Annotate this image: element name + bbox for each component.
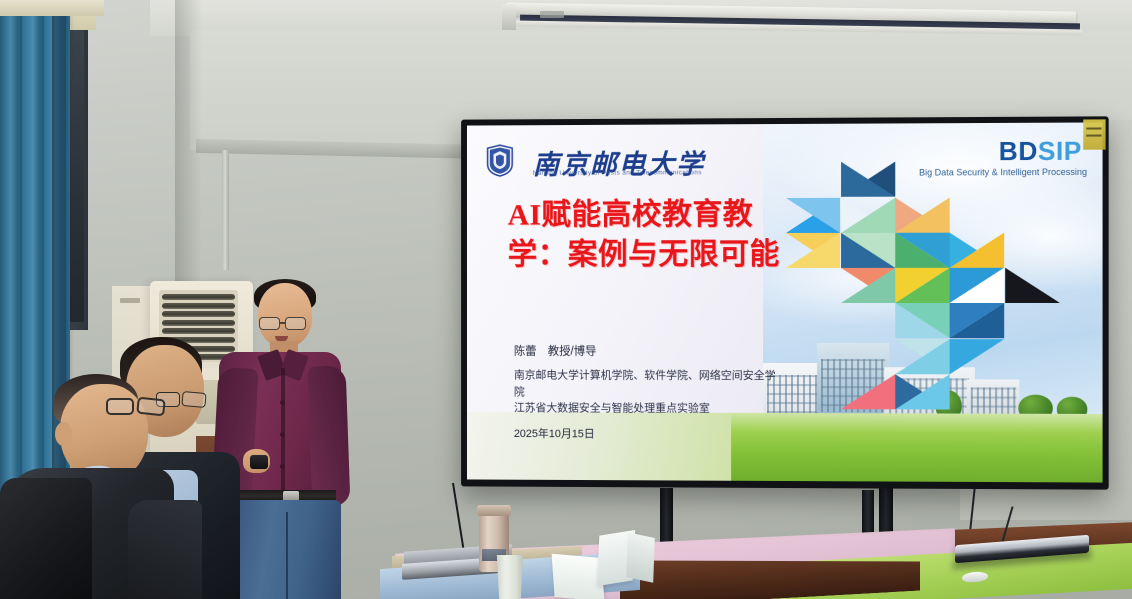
attendee-front-eyeglasses-icon — [106, 398, 134, 415]
office-chair-back[interactable] — [0, 478, 92, 599]
mosaic-triangle — [895, 233, 949, 268]
triangular-mosaic-graphic — [782, 159, 1077, 433]
mosaic-triangle — [950, 232, 1005, 267]
paper-cup[interactable] — [495, 555, 525, 599]
ac-brand-logo — [120, 298, 140, 303]
ac-louver — [162, 294, 235, 300]
shirt-button — [280, 400, 285, 405]
presenter-shirt-placket — [281, 368, 285, 508]
presenter-name-line: 陈蕾 教授/博导 — [514, 343, 779, 361]
ac-louver — [162, 311, 235, 317]
slide-title: AI赋能高校教育教学：案例与无限可能 — [508, 195, 786, 275]
slide: 南京邮电大学 Nanjing University of Posts and T… — [467, 122, 1103, 482]
wall-conduit — [222, 150, 229, 270]
shirt-button — [280, 432, 285, 437]
warranty-sticker-icon — [1083, 119, 1105, 149]
ac-louver — [162, 320, 235, 326]
presentation-display[interactable]: 南京邮电大学 Nanjing University of Posts and T… — [461, 116, 1109, 489]
mosaic-triangle — [950, 303, 1005, 338]
lab-tagline: Big Data Security & Intelligent Processi… — [919, 166, 1087, 177]
mosaic-triangle — [841, 162, 895, 197]
tv-screen: 南京邮电大学 Nanjing University of Posts and T… — [467, 122, 1103, 482]
mosaic-triangle — [895, 303, 949, 338]
thermos-cap[interactable] — [477, 505, 511, 516]
mosaic-triangle — [841, 268, 895, 303]
attendee-front-eyeglasses-icon — [136, 397, 166, 417]
slide-date: 2025年10月15日 — [514, 426, 779, 444]
mosaic-triangle — [895, 374, 949, 409]
mosaic-triangle — [895, 197, 949, 232]
presentation-clicker-icon[interactable] — [250, 455, 268, 469]
mosaic-triangle — [895, 268, 949, 303]
mosaic-triangle — [841, 374, 895, 409]
room-scene: 南京邮电大学 Nanjing University of Posts and T… — [0, 0, 1132, 599]
university-name-en: Nanjing University of Posts and Telecomm… — [533, 169, 702, 177]
mosaic-triangle — [1005, 268, 1060, 303]
lab-logo-bd: BD — [999, 136, 1038, 166]
mosaic-triangle — [786, 233, 840, 268]
mosaic-triangle — [841, 233, 895, 268]
presenter-affiliation-1: 南京邮电大学计算机学院、软件学院、网络空间安全学院 — [514, 368, 779, 402]
name-placard[interactable] — [626, 532, 655, 582]
mosaic-triangle — [841, 197, 895, 232]
ac-louver — [162, 303, 235, 309]
lab-logo: BDSIP — [999, 135, 1082, 167]
projector-screen-bracket — [502, 4, 516, 30]
lab-logo-sip: SIP — [1038, 135, 1082, 165]
mosaic-triangle — [895, 339, 949, 374]
university-emblem-icon — [487, 144, 514, 177]
presenter-eyeglasses-icon — [259, 317, 280, 330]
mosaic-triangle — [786, 197, 840, 232]
presenter-affiliation-2: 江苏省大数据安全与智能处理重点实验室 — [514, 401, 779, 418]
projector-screen-label — [540, 11, 564, 18]
presenter-eyeglasses-icon — [285, 317, 306, 330]
curtain-rod — [0, 0, 104, 16]
ac-louver — [162, 328, 235, 334]
attendee-front-jacket-sleeve — [128, 500, 202, 599]
attendee-front-ear — [55, 422, 72, 446]
attendee-back-eyeglasses-icon — [181, 391, 206, 408]
presenter-right-arm — [308, 365, 351, 506]
mosaic-triangle — [950, 268, 1005, 303]
jeans-seam — [286, 512, 288, 599]
mosaic-triangle — [950, 339, 1005, 374]
slide-presenter-block: 陈蕾 教授/博导 南京邮电大学计算机学院、软件学院、网络空间安全学院 江苏省大数… — [514, 343, 779, 444]
presenter-eyeglasses-bridge — [280, 322, 286, 324]
shirt-button — [280, 464, 285, 469]
